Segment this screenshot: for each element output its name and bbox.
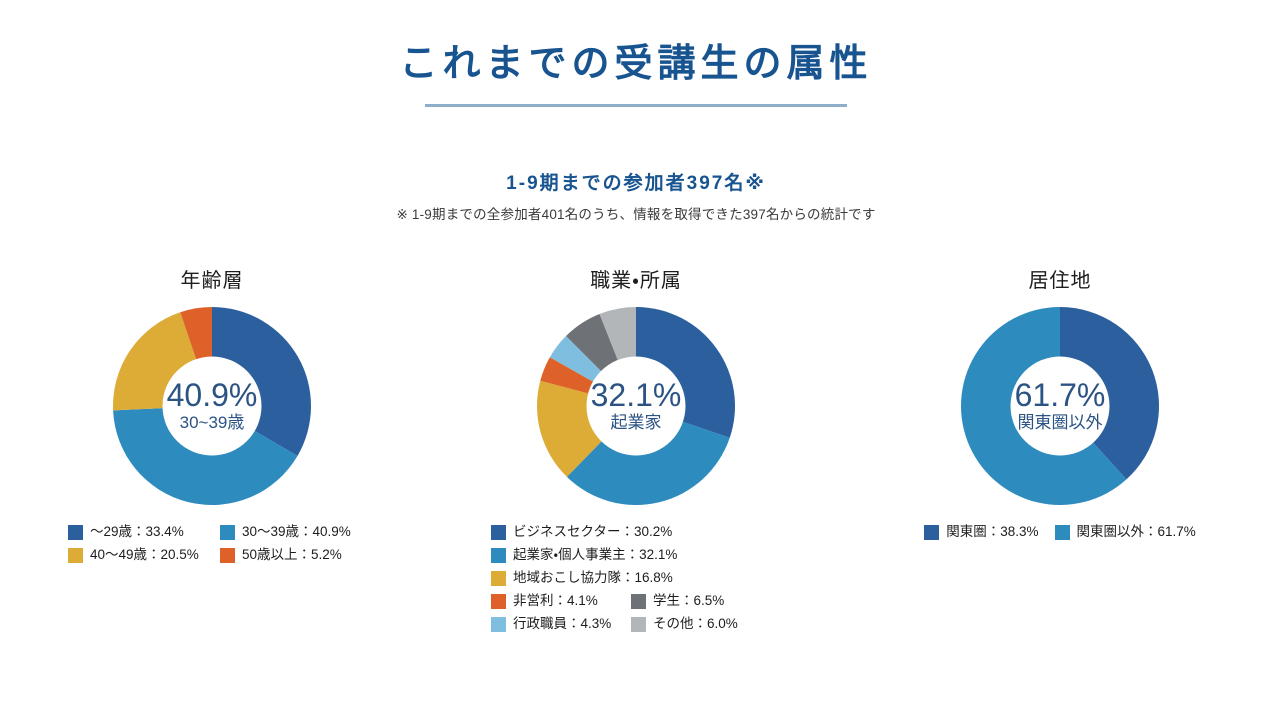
legend-swatch-icon [68, 548, 83, 563]
legend-item: 関東圏：38.3% [924, 524, 1038, 540]
legend-label: 40〜49歳：20.5% [90, 547, 199, 563]
charts-container: 年齢層 40.9% 30~39歳 ～29歳：33.4% 30〜39歳：40.9% [0, 268, 1272, 688]
legend-item: 学生：6.5% [631, 593, 761, 609]
legend-label: 50歳以上：5.2% [242, 547, 342, 563]
chart-title-residence: 居住地 [1029, 268, 1092, 294]
legend-swatch-icon [491, 548, 506, 563]
donut-hole [1011, 357, 1110, 456]
donut-chart-occupation: 32.1% 起業家 [536, 306, 736, 506]
legend-label: その他：6.0% [653, 616, 738, 632]
legend-item: その他：6.0% [631, 616, 761, 632]
legend-label: 30〜39歳：40.9% [242, 524, 351, 540]
legend-item: 関東圏以外：61.7% [1055, 524, 1196, 540]
legend-swatch-icon [491, 617, 506, 632]
legend-label: 関東圏以外：61.7% [1077, 524, 1196, 540]
donut-segments-residence [961, 307, 1159, 505]
legend-swatch-icon [491, 571, 506, 586]
title-underline-divider [425, 104, 847, 107]
legend-swatch-icon [631, 617, 646, 632]
donut-svg-occupation [536, 306, 736, 506]
legend-item: 30〜39歳：40.9% [220, 524, 356, 540]
legend-label: 非営利：4.1% [513, 593, 598, 609]
legend-item: 40〜49歳：20.5% [68, 547, 204, 563]
donut-svg-residence [960, 306, 1160, 506]
slide-root: これまでの受講生の属性 1-9期までの参加者397名※ ※ 1-9期までの全参加… [0, 0, 1272, 720]
legend-label: 行政職員：4.3% [513, 616, 611, 632]
subtitle-note: ※ 1-9期までの全参加者401名のうち、情報を取得できた397名からの統計です [0, 203, 1272, 223]
legend-label: 起業家・個人事業主：32.1% [513, 547, 677, 563]
legend-item: 地域おこし協力隊：16.8% [491, 570, 766, 586]
subtitle: 1-9期までの参加者397名※ [0, 168, 1272, 195]
legend-swatch-icon [631, 594, 646, 609]
legend-item: 行政職員：4.3% [491, 616, 621, 632]
legend-item: ビジネスセクター：30.2% [491, 524, 766, 540]
page-title: これまでの受講生の属性 [0, 44, 1272, 86]
donut-svg-age [112, 306, 312, 506]
donut-chart-age: 40.9% 30~39歳 [112, 306, 312, 506]
legend-age: ～29歳：33.4% 30〜39歳：40.9% 40〜49歳：20.5% 50歳… [62, 524, 362, 563]
legend-swatch-icon [68, 525, 83, 540]
donut-hole [587, 357, 686, 456]
legend-swatch-icon [220, 525, 235, 540]
legend-label: ～29歳：33.4% [90, 524, 184, 540]
donut-hole [163, 357, 262, 456]
legend-swatch-icon [924, 525, 939, 540]
chart-column-residence: 居住地 61.7% 関東圏以外 関東圏：38.3% 関東圏以外：61.7% [848, 268, 1272, 540]
chart-title-age: 年齢層 [181, 268, 244, 294]
legend-swatch-icon [1055, 525, 1070, 540]
chart-title-occupation: 職業・所属 [590, 268, 682, 294]
legend-occupation: ビジネスセクター：30.2% 起業家・個人事業主：32.1% 地域おこし協力隊：… [491, 524, 781, 632]
legend-residence: 関東圏：38.3% 関東圏以外：61.7% [900, 524, 1220, 540]
legend-swatch-icon [220, 548, 235, 563]
legend-label: 地域おこし協力隊：16.8% [513, 570, 673, 586]
legend-swatch-icon [491, 525, 506, 540]
legend-label: ビジネスセクター：30.2% [513, 524, 672, 540]
chart-column-age: 年齢層 40.9% 30~39歳 ～29歳：33.4% 30〜39歳：40.9% [0, 268, 424, 563]
legend-item: 50歳以上：5.2% [220, 547, 356, 563]
donut-segments-age [113, 307, 311, 505]
legend-label: 学生：6.5% [653, 593, 724, 609]
donut-segments-occupation [537, 307, 735, 505]
chart-column-occupation: 職業・所属 32.1% 起業家 ビジネスセクター：30.2% 起業家・個人事業主… [424, 268, 848, 632]
donut-chart-residence: 61.7% 関東圏以外 [960, 306, 1160, 506]
legend-item: 非営利：4.1% [491, 593, 621, 609]
legend-item: 起業家・個人事業主：32.1% [491, 547, 766, 563]
legend-item: ～29歳：33.4% [68, 524, 204, 540]
legend-label: 関東圏：38.3% [946, 524, 1038, 540]
legend-swatch-icon [491, 594, 506, 609]
